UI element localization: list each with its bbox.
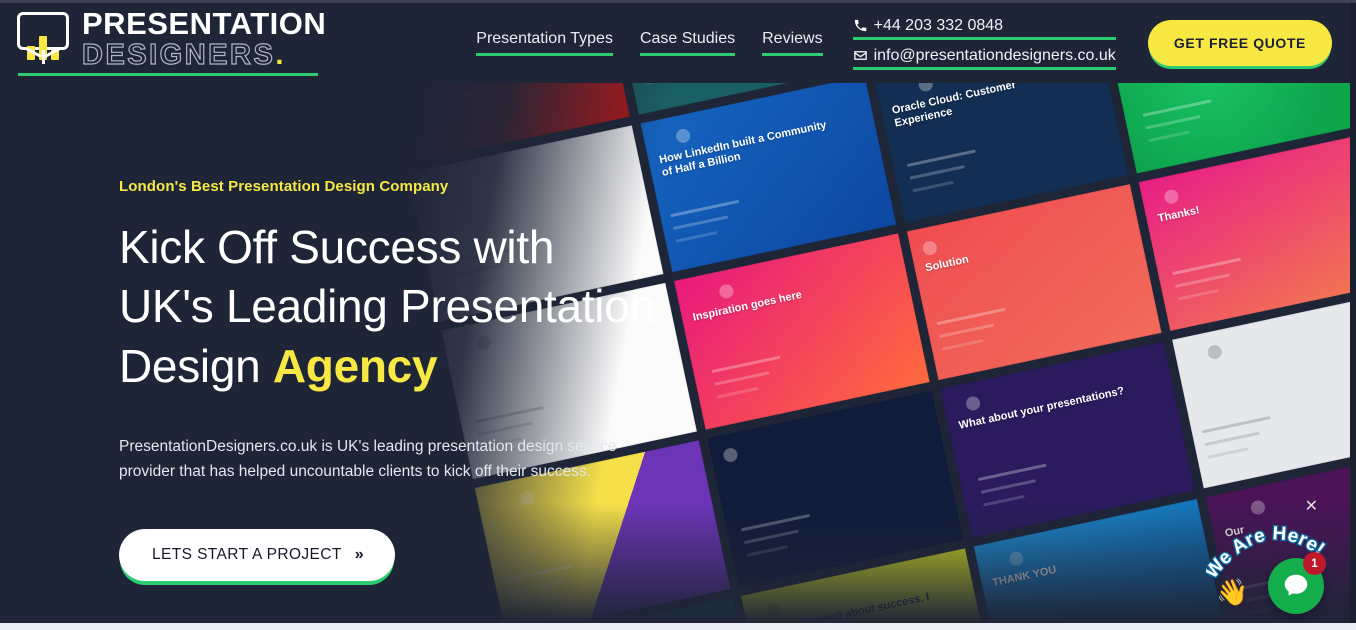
logo-line-1: PRESENTATION <box>82 8 326 39</box>
close-icon[interactable]: ✕ <box>1305 496 1318 516</box>
chat-widget: ✕ We Are Here! 👋 1 <box>1208 516 1328 616</box>
phone-icon <box>853 18 868 33</box>
headline-line-1: Kick Off Success with <box>119 221 554 273</box>
collage-slide-title: What about your presentations? <box>958 384 1131 433</box>
nav-item-reviews[interactable]: Reviews <box>762 30 822 56</box>
site-header: PRESENTATION DESIGNERS. Presentation Typ… <box>0 3 1350 83</box>
hero-content: London's Best Presentation Design Compan… <box>119 178 719 581</box>
phone-link[interactable]: +44 203 332 0848 <box>853 17 1116 40</box>
chat-bubble-button[interactable]: 1 <box>1268 558 1324 614</box>
collage-slide-title: Thanks! <box>1157 177 1330 226</box>
brand-logo[interactable]: PRESENTATION DESIGNERS. <box>14 8 326 78</box>
logo-dot: . <box>275 39 286 71</box>
browser-bottom-strip <box>0 623 1356 630</box>
presentation-board-chart-icon <box>14 10 72 68</box>
chat-bubble-icon <box>1281 571 1311 601</box>
collage-slide-title: How LinkedIn built a Community of Half a… <box>658 118 833 179</box>
cta-label: LETS START A PROJECT <box>152 546 342 564</box>
phone-number: +44 203 332 0848 <box>874 17 1003 35</box>
nav-item-presentation-types[interactable]: Presentation Types <box>476 30 613 56</box>
lets-start-a-project-button[interactable]: LETS START A PROJECT » <box>119 529 395 581</box>
collage-slide-title: THANK YOU <box>991 541 1164 590</box>
envelope-icon <box>853 48 868 63</box>
contact-info: +44 203 332 0848 info@presentationdesign… <box>853 17 1116 70</box>
get-free-quote-button[interactable]: GET FREE QUOTE <box>1148 20 1332 66</box>
hero-page: Product DevelopmentWho is SparkToro For?… <box>0 0 1356 630</box>
chat-unread-badge: 1 <box>1303 552 1326 575</box>
double-chevron-right-icon: » <box>355 546 362 564</box>
browser-right-strip <box>1350 3 1356 623</box>
email-link[interactable]: info@presentationdesigners.co.uk <box>853 47 1116 70</box>
headline-line-2: UK's Leading Presentation <box>119 280 655 332</box>
nav-item-case-studies[interactable]: Case Studies <box>640 30 735 56</box>
hero-eyebrow: London's Best Presentation Design Compan… <box>119 178 719 195</box>
logo-underline <box>18 73 318 76</box>
browser-top-strip <box>0 0 1356 3</box>
brand-logo-text: PRESENTATION DESIGNERS. <box>82 8 326 70</box>
hero-headline: Kick Off Success with UK's Leading Prese… <box>119 218 719 396</box>
headline-accent-word: Agency <box>273 340 437 392</box>
collage-slide-title: Solution <box>924 226 1097 275</box>
headline-line-3: Design <box>119 340 273 392</box>
hero-subcopy: PresentationDesigners.co.uk is UK's lead… <box>119 434 624 484</box>
collage-slide-title: I never dreamed about success. I worked … <box>759 591 934 623</box>
logo-line-2: DESIGNERS. <box>82 41 326 70</box>
email-address: info@presentationdesigners.co.uk <box>874 47 1116 65</box>
waving-hand-icon: 👋 <box>1216 577 1248 608</box>
main-navigation: Presentation Types Case Studies Reviews <box>476 30 822 56</box>
